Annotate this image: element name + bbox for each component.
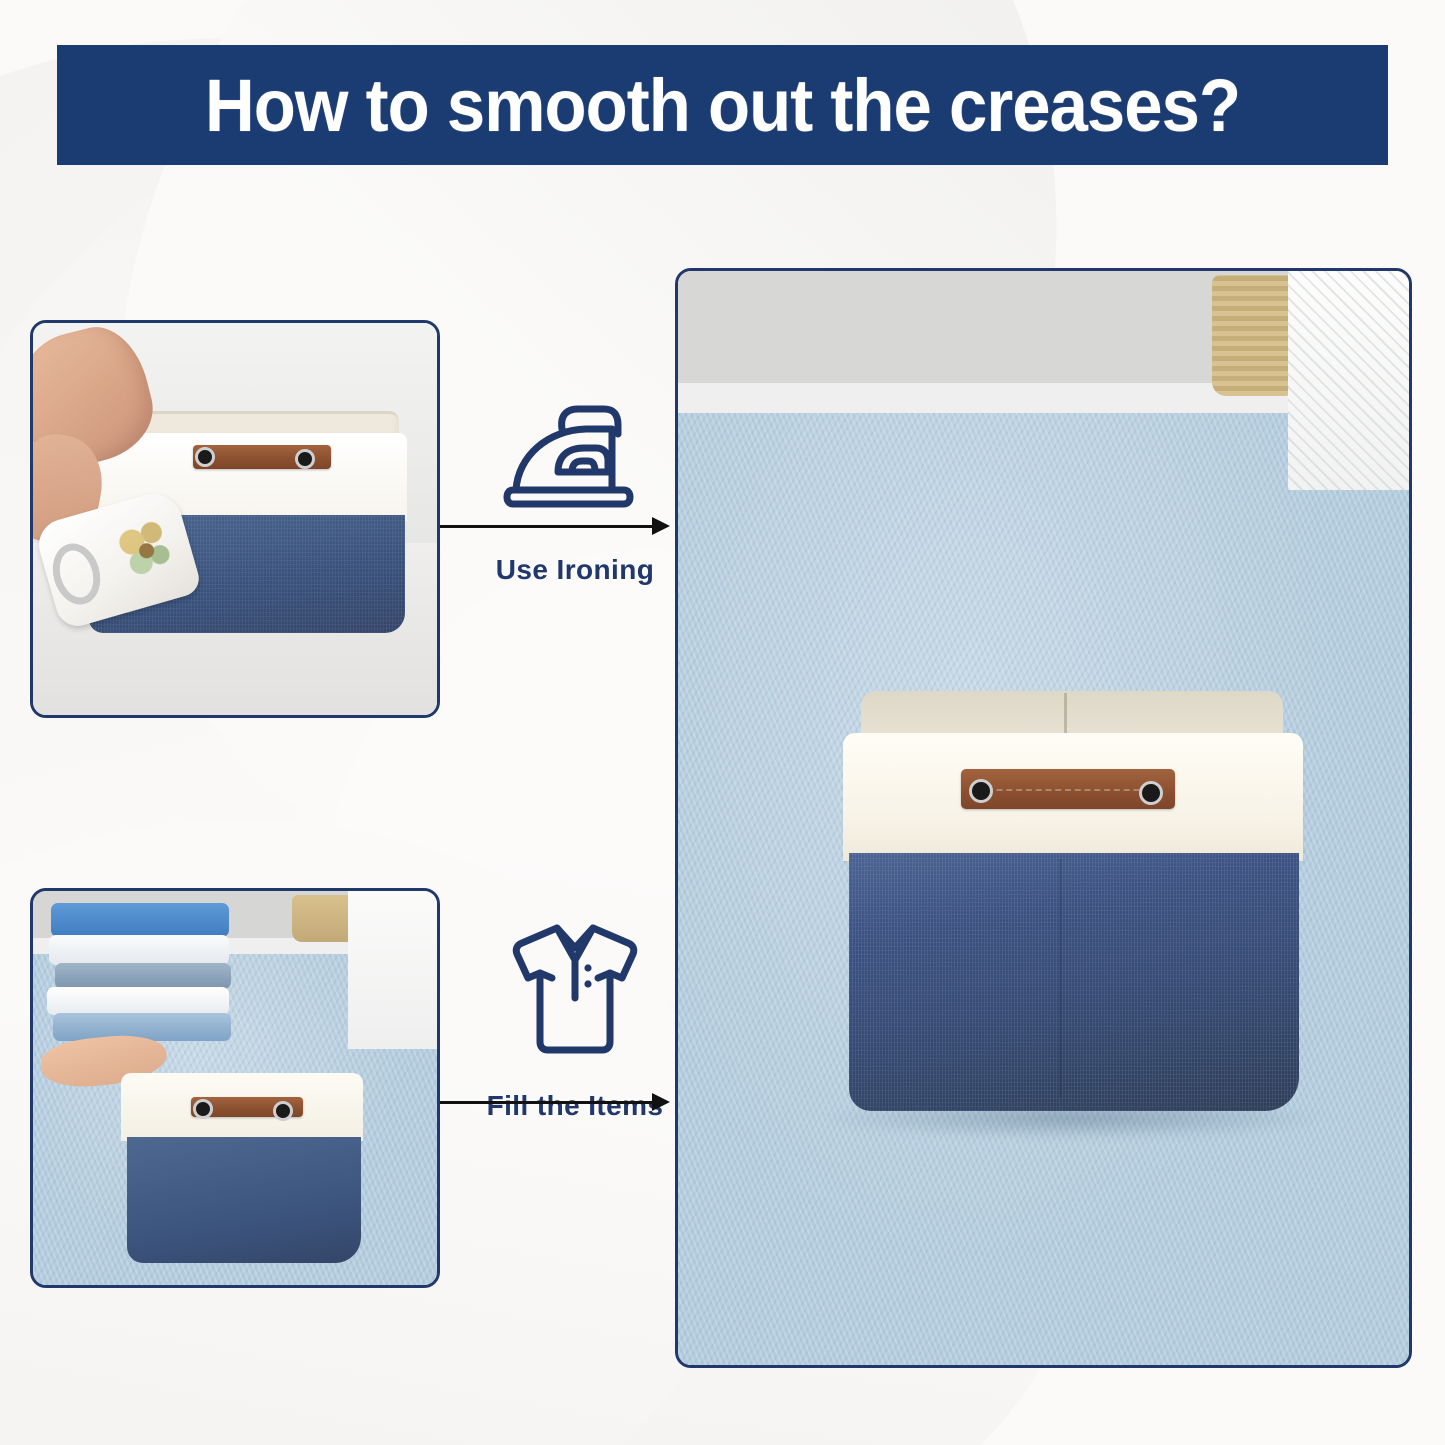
hero-scene — [678, 271, 1409, 1365]
basket-blue-body — [849, 853, 1299, 1111]
shirt-button-icon — [584, 980, 591, 987]
woven-straw-basket — [1212, 275, 1300, 395]
grommet-left-icon — [195, 447, 215, 467]
step-arrow-fill-the-items — [440, 1094, 670, 1110]
iron-handle-ring — [46, 538, 107, 610]
shirt-button-icon — [584, 964, 591, 971]
title-banner: How to smooth out the creases? — [57, 45, 1388, 165]
arrow-head-icon — [652, 517, 670, 535]
folded-cloth-white-2 — [47, 987, 229, 1015]
hero-product-photo — [675, 268, 1412, 1368]
folded-cloth-white — [49, 935, 229, 965]
storage-basket-fill — [121, 1073, 363, 1263]
grommet-right-icon — [273, 1101, 293, 1121]
step-caption-use-ironing: Use Ironing — [496, 554, 654, 586]
step-photo-use-ironing — [30, 320, 440, 718]
page-title: How to smooth out the creases? — [205, 63, 1240, 148]
arrow-head-icon — [652, 1093, 670, 1111]
basket-body-seam — [1059, 859, 1062, 1097]
arrow-line — [440, 1101, 653, 1104]
basket-blue-body — [127, 1137, 361, 1263]
white-curtain — [348, 891, 437, 1049]
floral-pattern-decoration — [107, 509, 178, 584]
fill-items-scene — [33, 891, 437, 1285]
folded-cloth-blue-top — [51, 903, 229, 937]
grommet-right-icon — [1139, 781, 1163, 805]
grommet-left-icon — [969, 779, 993, 803]
grommet-right-icon — [295, 449, 315, 469]
arrow-line — [440, 525, 653, 528]
folded-cloth-gray — [55, 963, 231, 989]
grommet-left-icon — [193, 1099, 213, 1119]
step-column-fill-the-items: Fill the Items — [460, 916, 690, 1122]
woven-straw-basket — [292, 895, 357, 942]
step-column-use-ironing: Use Ironing — [460, 398, 690, 586]
clothes-iron-icon — [500, 398, 650, 520]
storage-basket-hero — [843, 691, 1303, 1111]
ironing-scene — [33, 323, 437, 715]
step-photo-fill-the-items — [30, 888, 440, 1288]
step-arrow-use-ironing — [440, 518, 670, 534]
polo-shirt-icon — [500, 916, 650, 1062]
white-curtain — [1288, 271, 1409, 490]
infographic-page: How to smooth out the creases? — [0, 0, 1445, 1445]
